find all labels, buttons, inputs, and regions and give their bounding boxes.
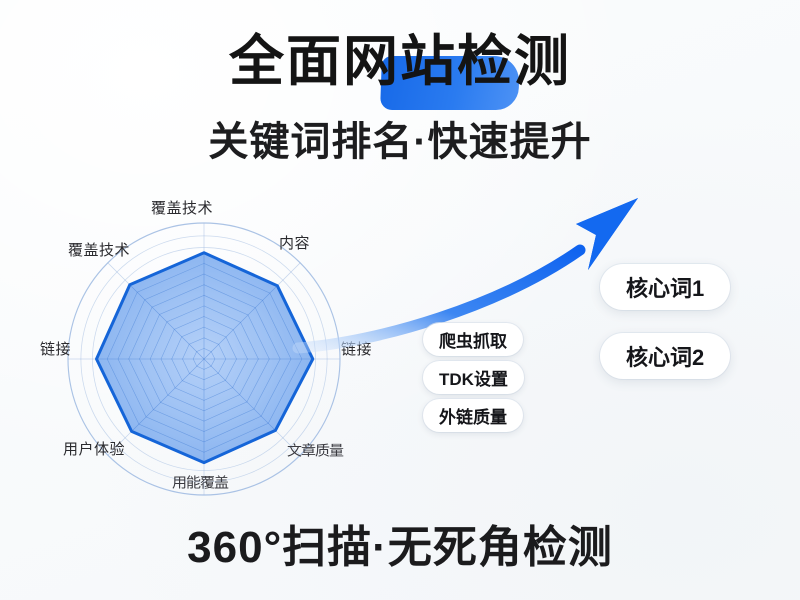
page-title: 全面网站检测 — [229, 34, 571, 89]
keyword-pill-2[interactable]: 核心词2 — [600, 333, 730, 379]
radar-label-bottom-right: 文章质量 — [287, 441, 343, 461]
keyword-pill-1[interactable]: 核心词1 — [600, 264, 730, 310]
feature-pill-tdk[interactable]: TDK设置 — [423, 361, 524, 394]
radar-label-right: 链接 — [341, 338, 372, 359]
radar-label-bottom-left: 用户体验 — [63, 438, 125, 459]
feature-pill-crawl[interactable]: 爬虫抓取 — [423, 323, 523, 356]
radar-label-top-right: 内容 — [279, 232, 310, 253]
page-title-text: 全面网站检测 — [229, 30, 571, 92]
footer-tagline: 360°扫描·无死角检测 — [0, 524, 800, 572]
page-title-wrap: 全面网站检测 — [0, 34, 800, 89]
radar-label-bottom: 用能覆盖 — [172, 473, 228, 493]
feature-pill-backlink[interactable]: 外链质量 — [423, 399, 523, 432]
radar-chart: 覆盖技术 内容 链接 文章质量 用能覆盖 用户体验 链接 覆盖技术 — [20, 195, 440, 515]
radar-label-left: 链接 — [40, 338, 71, 359]
radar-label-top-left: 覆盖技术 — [68, 239, 130, 260]
radar-label-top: 覆盖技术 — [151, 197, 213, 218]
page-subtitle: 关键词排名·快速提升 — [0, 118, 800, 166]
